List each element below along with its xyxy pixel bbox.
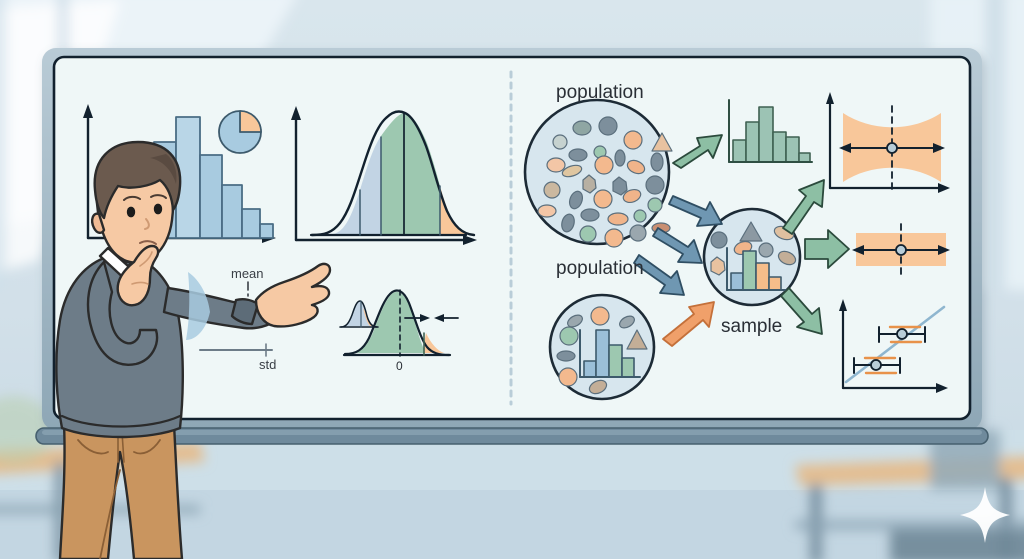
label-population-bottom: population [556, 258, 644, 280]
label-sample: sample [721, 316, 782, 338]
scene-root: population population sample mean std 0 [0, 0, 1024, 559]
label-population-top: population [556, 82, 644, 104]
label-zero: 0 [396, 359, 403, 373]
sparkle-layer [0, 0, 1024, 559]
label-mean: mean [231, 266, 264, 281]
sparkle-icon [960, 487, 1010, 543]
label-std: std [259, 357, 276, 372]
